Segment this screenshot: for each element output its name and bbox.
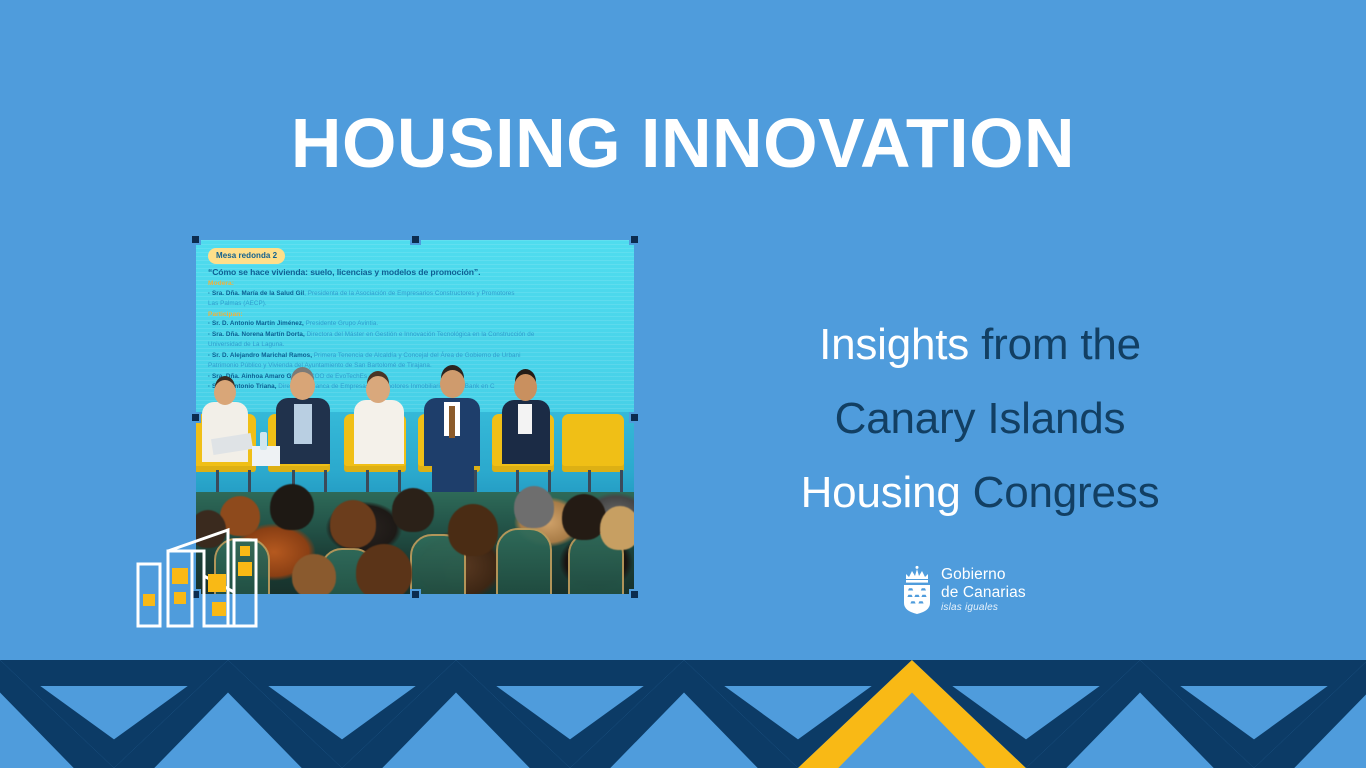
subtitle-highlight: Insights (819, 320, 969, 369)
audience-head (600, 506, 634, 550)
banner-moderator-name: · Sra. Dña. María de la Salud Gil (208, 290, 304, 297)
water-bottle (260, 432, 267, 450)
banner-moderator-role2: Las Palmas (AECP). (208, 300, 267, 307)
banner-participant-row: · Sra. Dña. Norena Martín Dorta, Directo… (208, 330, 630, 341)
panelist-head (440, 370, 465, 398)
gov-logo-tagline: islas iguales (941, 603, 1026, 613)
subtitle-rest: Congress (961, 468, 1160, 517)
gov-logo-line-2: de Canarias (941, 585, 1026, 601)
banner-moderator-line2: Las Palmas (AECP). (208, 299, 630, 310)
panel-chair (562, 414, 624, 472)
banner-moderator-label: Modera: (208, 279, 630, 289)
subtitle-rest: from the (969, 320, 1141, 369)
panelist-head (366, 376, 390, 403)
participant-role: Directora del Máster en Gestión e Innova… (305, 331, 535, 338)
canary-islands-coat-of-arms-icon (900, 565, 934, 615)
selection-handle-top-right[interactable] (629, 234, 640, 245)
banner-participants-label: Participan: (208, 310, 630, 320)
banner-badge: Mesa redonda 2 (208, 248, 285, 264)
panelist (354, 400, 404, 464)
audience-head (514, 486, 554, 528)
participant-role: Universidad de La Laguna. (208, 341, 285, 348)
selection-handle-bottom-right[interactable] (629, 589, 640, 600)
panelist-head (514, 374, 537, 401)
banner-heading: “Cómo se hace vivienda: suelo, licencias… (208, 266, 630, 279)
banner-moderator-role: , Presidenta de la Asociación de Empresa… (304, 290, 514, 297)
panelist-shirt (518, 404, 532, 434)
audience-head (448, 504, 498, 556)
audience-head (292, 554, 336, 594)
panelist-head (290, 372, 315, 400)
participant-name: · Sr. D. Antonio Martín Jiménez, (208, 320, 304, 327)
participant-name: · Sr. D. Alejandro Marichal Ramos, (208, 352, 312, 359)
subtitle-line-3: Housing Congress (700, 456, 1260, 530)
gobierno-de-canarias-logo: Gobierno de Canarias islas iguales (900, 562, 1032, 618)
subtitle-line-1: Insights from the (700, 308, 1260, 382)
participant-role: Primera Tenencia de Alcaldía y Concejal … (312, 352, 521, 359)
page-title: HOUSING INNOVATION (0, 108, 1366, 178)
panelist-shirt (294, 404, 312, 444)
banner-participant-row: · Sr. D. Antonio Martín Jiménez, Preside… (208, 319, 630, 330)
selection-handle-middle-left[interactable] (190, 412, 201, 423)
selection-handle-top-left[interactable] (190, 234, 201, 245)
banner-moderator-line: · Sra. Dña. María de la Salud Gil, Presi… (208, 289, 630, 300)
banner-participant-row: Patrimonio Público y Vivienda del Ayunta… (208, 361, 630, 372)
audience-head (270, 484, 314, 530)
audience-head (392, 488, 434, 532)
selection-handle-bottom-center[interactable] (410, 589, 421, 600)
participant-name: · Sra. Dña. Norena Martín Dorta, (208, 331, 305, 338)
audience-head (330, 500, 376, 548)
banner-text-block: Mesa redonda 2 “Cómo se hace vivienda: s… (208, 248, 630, 393)
subtitle-highlight: Housing (801, 468, 961, 517)
banner-participant-row: · Sr. D. Antonio Triana, Director de Ban… (208, 382, 630, 393)
subtitle-line-2: Canary Islands (700, 382, 1260, 456)
selection-handle-middle-right[interactable] (629, 412, 640, 423)
banner-participant-row: Universidad de La Laguna. (208, 340, 630, 351)
subtitle: Insights from the Canary Islands Housing… (700, 308, 1260, 530)
triangle-pattern-decoration (0, 638, 1366, 768)
gov-logo-wordmark: Gobierno de Canarias islas iguales (941, 567, 1026, 613)
audience-seatback (496, 528, 552, 594)
audience-head (356, 544, 412, 594)
panelist-head (214, 380, 236, 405)
banner-participant-row: · Sra. Dña. Ainhoa Amaro García, COO de … (208, 372, 630, 383)
participant-role: Patrimonio Público y Vivienda del Ayunta… (208, 362, 432, 369)
banner-participant-row: · Sr. D. Alejandro Marichal Ramos, Prime… (208, 351, 630, 362)
panelist-tie (449, 406, 455, 438)
participant-role: COO de EvoTechEs (308, 373, 367, 380)
housing-buildings-icon (116, 518, 266, 628)
presentation-slide: HOUSING INNOVATION Mesa redonda 2 “Cómo … (0, 0, 1366, 768)
selection-handle-top-center[interactable] (410, 234, 421, 245)
gov-logo-line-1: Gobierno (941, 567, 1026, 583)
participant-role: Presidente Grupo Avintia. (304, 320, 378, 327)
